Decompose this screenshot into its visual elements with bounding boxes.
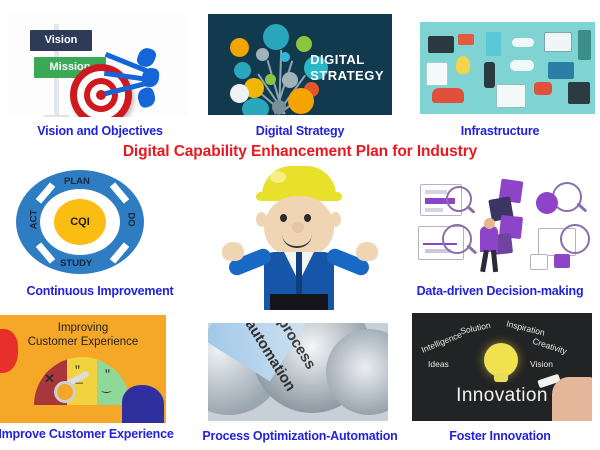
- cell-process-optimization: process automation Process Optimization-…: [200, 305, 400, 450]
- monitor-icon: [296, 36, 312, 52]
- caption-infrastructure: Infrastructure: [400, 124, 600, 138]
- caption-data-driven: Data-driven Decision-making: [400, 284, 600, 298]
- ce-heading-line-2: Customer Experience: [0, 335, 166, 349]
- caption-process-optimization: Process Optimization-Automation: [200, 429, 400, 443]
- magnifier-icon: [442, 224, 472, 254]
- cell-continuous-improvement: CQI PLAN DO STUDY ACT Continuous Improve…: [0, 160, 200, 305]
- laptop-icon: [230, 38, 249, 57]
- worker-illustration: [200, 160, 400, 310]
- phone-icon: [234, 62, 251, 79]
- ce-heading: Improving Customer Experience: [0, 321, 166, 349]
- cell-data-driven: Data-driven Decision-making: [400, 160, 600, 305]
- data-driven-image: [412, 172, 598, 276]
- word-creativity: Creativity: [531, 336, 568, 356]
- person-head: [484, 218, 495, 229]
- headline-line-1: DIGITAL: [310, 52, 384, 68]
- washer-icon: [426, 62, 448, 86]
- cell-foster-innovation: Intelligence Solution Inspiration Creati…: [400, 305, 600, 450]
- magnifier-icon: [560, 224, 590, 254]
- segment-label-study: STUDY: [60, 258, 92, 269]
- happy-face-icon: ＂‿: [102, 371, 113, 393]
- caption-continuous-improvement: Continuous Improvement: [0, 284, 200, 298]
- house-icon: [496, 84, 526, 108]
- digital-strategy-image: DIGITAL STRATEGY: [208, 14, 392, 115]
- sitemap-node: [530, 254, 548, 270]
- hard-hat-highlight: [270, 171, 286, 183]
- monitor-icon: [548, 62, 574, 79]
- cell-infrastructure: Infrastructure: [400, 0, 600, 145]
- signpost-base: [44, 115, 69, 117]
- magnifier-handle: [466, 205, 475, 214]
- cqi-center-label: CQI: [54, 199, 106, 245]
- tablet-icon: [263, 24, 289, 50]
- lightbulb-icon: [484, 343, 518, 377]
- speaker-icon: [484, 62, 495, 88]
- hand-left: [222, 242, 244, 261]
- gear-icon: [536, 192, 558, 214]
- cloud-icon: [510, 60, 534, 71]
- briefcase-icon: [282, 72, 298, 88]
- headline-line-2: STRATEGY: [310, 68, 384, 84]
- nose: [292, 222, 304, 233]
- segment-label-act: ACT: [28, 210, 39, 230]
- printer-icon: [534, 82, 552, 95]
- customer-experience-image: Improving Customer Experience ✕ ＂— ＂‿: [0, 315, 166, 423]
- process-automation-image: process automation: [208, 323, 388, 421]
- word-inspiration: Inspiration: [505, 318, 545, 337]
- screen-icon: [288, 88, 314, 114]
- sitemap-node: [554, 254, 570, 268]
- dot-icon: [265, 74, 276, 85]
- router-icon: [512, 38, 534, 47]
- jacket-seam: [296, 252, 302, 298]
- caption-digital-strategy: Digital Strategy: [200, 124, 400, 138]
- infrastructure-image: [420, 22, 595, 114]
- appliance-icon: [568, 82, 590, 104]
- word-vision: Vision: [530, 359, 553, 369]
- page-title: Digital Capability Enhancement Plan for …: [0, 143, 600, 161]
- lightbulb-base: [494, 373, 508, 382]
- vision-objectives-image: Vision Mission: [8, 12, 188, 117]
- vision-label: Vision: [30, 30, 92, 51]
- person-leg: [480, 250, 489, 273]
- car-icon: [432, 88, 464, 103]
- tablet-icon: [486, 32, 501, 56]
- caption-foster-innovation: Foster Innovation: [400, 429, 600, 443]
- magnifier-handle: [467, 244, 478, 254]
- person-icon: [480, 226, 498, 252]
- sad-face-icon: ✕: [44, 371, 57, 382]
- word-intelligence: Intelligence: [420, 329, 464, 354]
- caption-vision-objectives: Vision and Objectives: [0, 124, 200, 138]
- cell-digital-strategy: DIGITAL STRATEGY Digital Strategy: [200, 0, 400, 145]
- bulb-icon: [456, 56, 470, 74]
- laptop-icon: [242, 98, 269, 115]
- segment-label-do: DO: [126, 212, 137, 226]
- camera-icon: [272, 100, 286, 114]
- hand-right: [356, 242, 378, 261]
- eye-left: [280, 214, 287, 222]
- cell-customer-experience: Improving Customer Experience ✕ ＂— ＂‿ Im…: [0, 305, 200, 450]
- ce-heading-line-1: Improving: [0, 321, 166, 335]
- eye-right: [304, 214, 311, 222]
- hand-icon: [552, 377, 592, 421]
- word-ideas: Ideas: [428, 359, 449, 369]
- dart-fin-icon: [135, 86, 157, 109]
- magnifier-handle: [577, 202, 588, 212]
- dot-icon: [280, 52, 290, 62]
- pdsa-cycle-icon: CQI PLAN DO STUDY ACT: [16, 170, 144, 274]
- server-icon: [578, 30, 591, 60]
- cell-worker: [200, 160, 400, 310]
- poster-canvas: Vision Mission Vision and Objectives: [0, 0, 600, 450]
- continuous-improvement-image: CQI PLAN DO STUDY ACT: [0, 160, 200, 280]
- cell-vision-objectives: Vision Mission Vision and Objectives: [0, 0, 200, 145]
- digital-strategy-headline: DIGITAL STRATEGY: [310, 52, 384, 84]
- tv-icon: [428, 36, 454, 53]
- word-solution: Solution: [459, 320, 491, 336]
- gauge-hub: [54, 381, 76, 403]
- segment-label-plan: PLAN: [64, 176, 90, 187]
- caption-customer-experience: Improve Customer Experience: [0, 427, 186, 441]
- innovation-image: Intelligence Solution Inspiration Creati…: [412, 313, 592, 421]
- camera-icon: [458, 34, 474, 45]
- file-icon: [256, 48, 269, 61]
- blue-shape: [122, 385, 164, 423]
- laptop-icon: [544, 32, 572, 52]
